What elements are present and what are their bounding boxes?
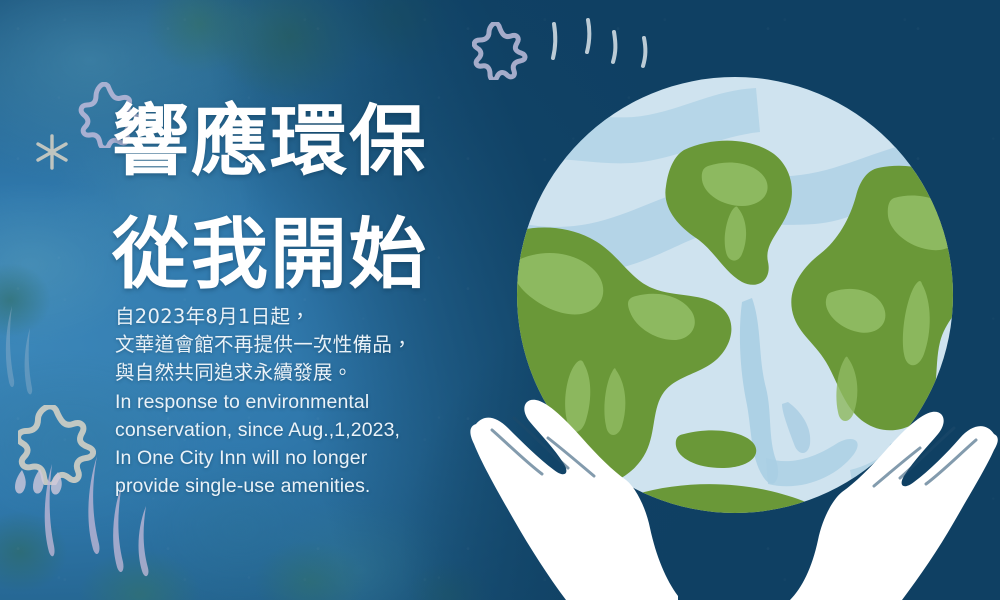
body-zh-line-1: 自2023年8月1日起， [115,303,460,331]
headline: 響應環保 從我開始 [112,86,472,312]
headline-line-2: 從我開始 [112,199,472,312]
body-zh-line-3: 與自然共同追求永續發展。 [115,359,460,387]
body-en-line-3: In One City Inn will no longer [115,444,460,472]
globe-land-south-highlight [649,514,776,551]
body-zh-line-2: 文華道會館不再提供一次性備品， [115,331,460,359]
body-en-line-4: provide single-use amenities. [115,472,460,500]
headline-line-1: 響應環保 [112,86,472,199]
body-copy: 自2023年8月1日起， 文華道會館不再提供一次性備品， 與自然共同追求永續發展… [115,303,460,500]
text-block: 響應環保 從我開始 自2023年8月1日起， 文華道會館不再提供一次性備品， 與… [0,0,470,600]
globe-in-hands-illustration [470,40,1000,600]
eco-poster: 響應環保 從我開始 自2023年8月1日起， 文華道會館不再提供一次性備品， 與… [0,0,1000,600]
body-en-line-1: In response to environmental [115,388,460,416]
body-en-line-2: conservation, since Aug.,1,2023, [115,416,460,444]
